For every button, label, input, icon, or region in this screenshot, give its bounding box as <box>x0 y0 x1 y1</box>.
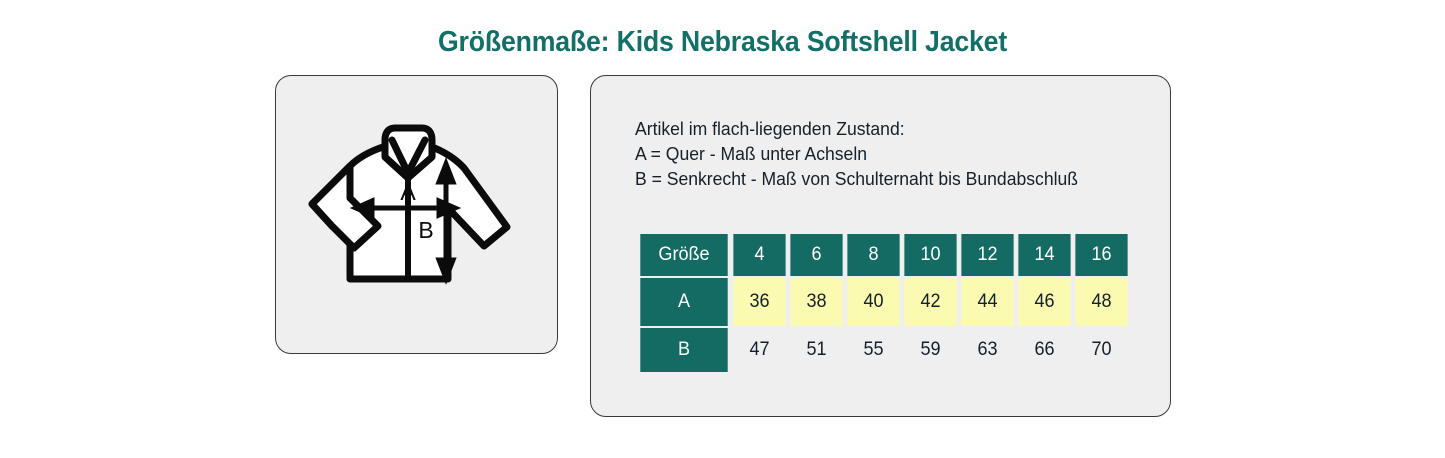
label-a: A <box>400 179 416 205</box>
table-row-a: A 36 38 40 42 44 46 48 <box>638 278 1129 326</box>
header-cell-size-label: Größe <box>640 234 727 276</box>
size-chart-page: Größenmaße: Kids Nebraska Softshell Jack… <box>0 0 1445 458</box>
cell-a-8: 40 <box>847 278 899 326</box>
cell-a-14: 46 <box>1018 278 1070 326</box>
cell-b-10: 59 <box>904 328 956 372</box>
cell-b-14: 66 <box>1018 328 1070 372</box>
cell-b-6: 51 <box>790 328 842 372</box>
legend-line-3: B = Senkrecht - Maß von Schulternaht bis… <box>635 166 1078 191</box>
cell-b-12: 63 <box>961 328 1013 372</box>
header-cell-size-4: 4 <box>733 234 785 276</box>
cell-b-8: 55 <box>847 328 899 372</box>
header-cell-size-8: 8 <box>847 234 899 276</box>
cell-b-4: 47 <box>733 328 785 372</box>
cell-a-4: 36 <box>733 278 785 326</box>
illustration-panel: A B <box>275 75 558 354</box>
header-cell-size-16: 16 <box>1075 234 1127 276</box>
size-table: Größe 4 6 8 10 12 14 16 A 36 38 40 42 44 <box>636 232 1131 374</box>
legend-line-2: A = Quer - Maß unter Achseln <box>635 141 1078 166</box>
header-cell-size-10: 10 <box>904 234 956 276</box>
jacket-icon: A B <box>298 116 538 316</box>
cell-a-6: 38 <box>790 278 842 326</box>
legend: Artikel im flach-liegenden Zustand: A = … <box>635 116 1078 191</box>
cell-a-12: 44 <box>961 278 1013 326</box>
cell-b-16: 70 <box>1075 328 1127 372</box>
row-label-a: A <box>640 278 727 326</box>
header-cell-size-6: 6 <box>790 234 842 276</box>
table-header-row: Größe 4 6 8 10 12 14 16 <box>638 234 1129 276</box>
header-cell-size-14: 14 <box>1018 234 1070 276</box>
row-label-b: B <box>640 328 727 372</box>
table-row-b: B 47 51 55 59 63 66 70 <box>638 328 1129 372</box>
legend-line-1: Artikel im flach-liegenden Zustand: <box>635 116 1078 141</box>
cell-a-10: 42 <box>904 278 956 326</box>
label-b: B <box>418 217 433 243</box>
page-title: Größenmaße: Kids Nebraska Softshell Jack… <box>58 26 1387 59</box>
cell-a-16: 48 <box>1075 278 1127 326</box>
measurements-panel: Artikel im flach-liegenden Zustand: A = … <box>590 75 1171 417</box>
header-cell-size-12: 12 <box>961 234 1013 276</box>
